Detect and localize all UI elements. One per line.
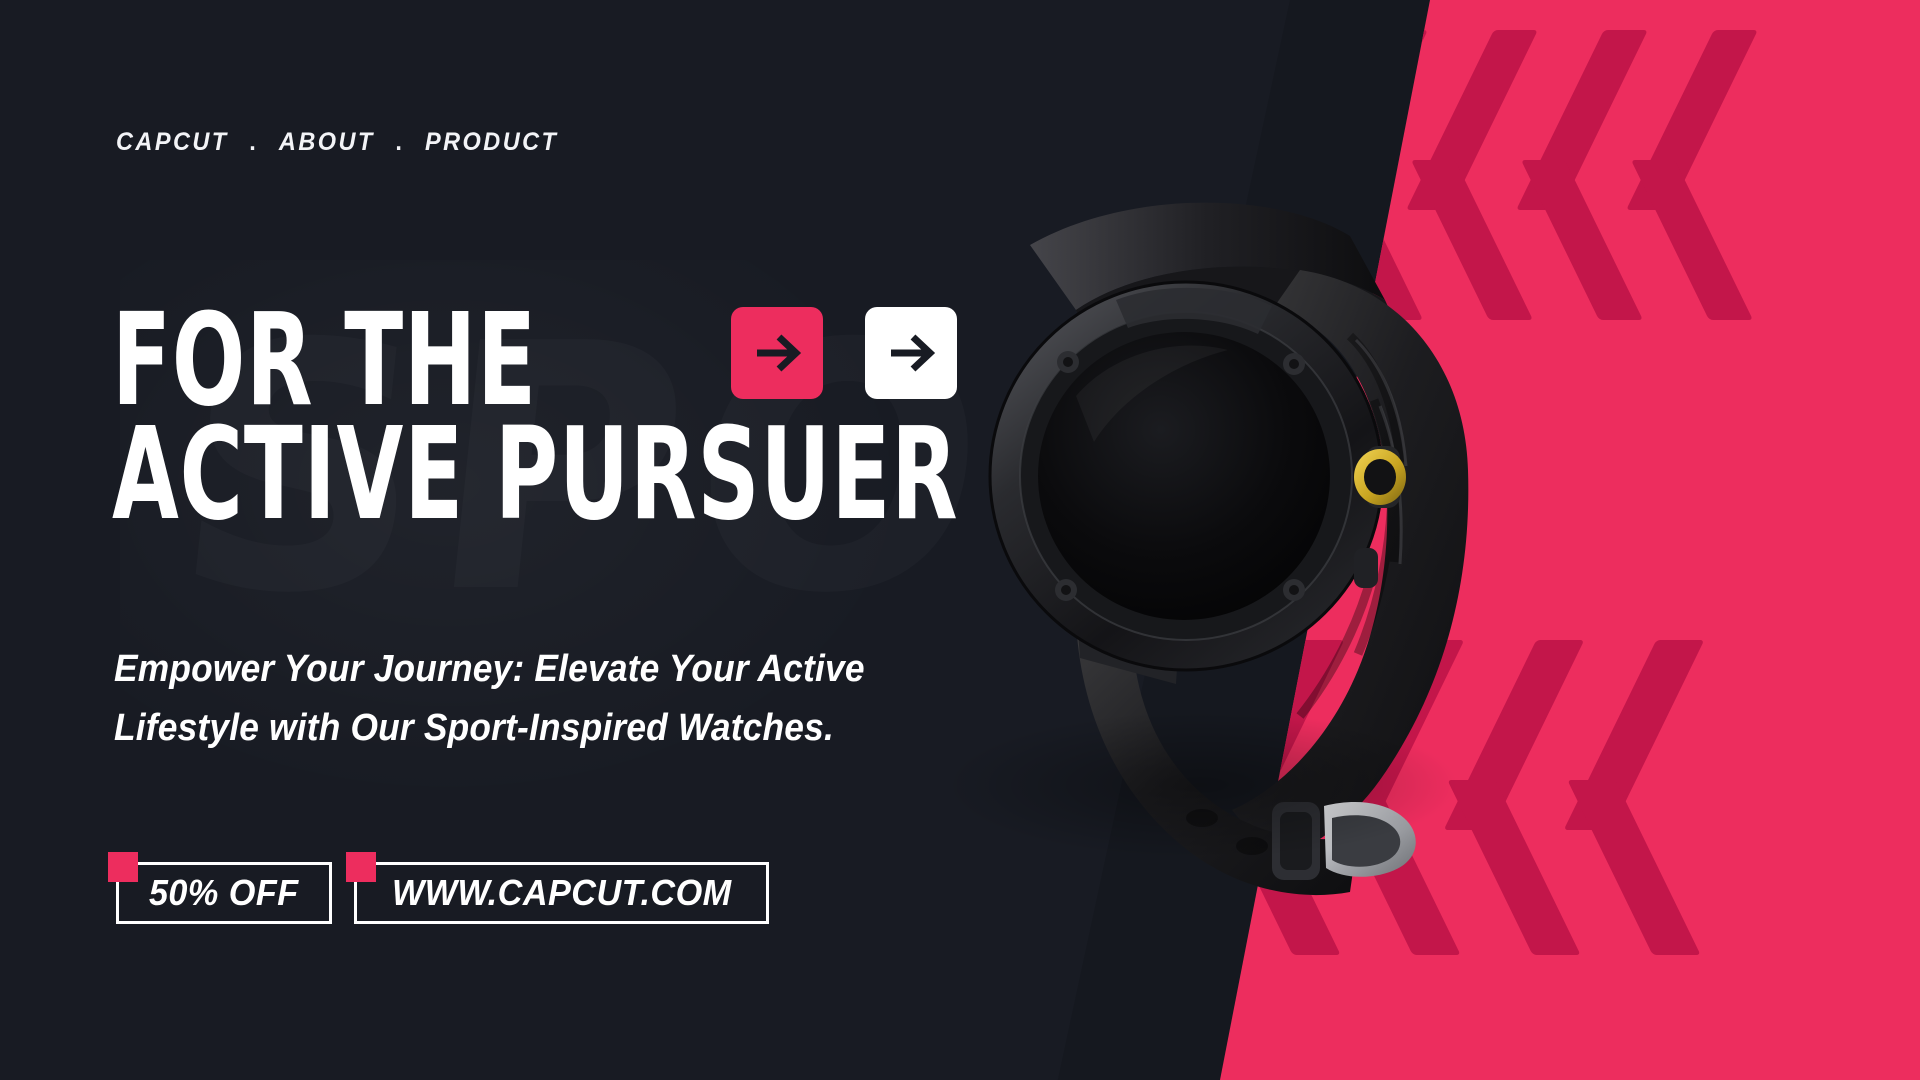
chevron-icon	[1610, 640, 1870, 900]
nav-separator: .	[229, 128, 279, 157]
website-badge[interactable]: WWW.CAPCUT.COM	[354, 862, 770, 924]
arrow-right-icon	[751, 327, 803, 379]
nav-item-capcut[interactable]: CAPCUT	[116, 128, 229, 157]
product-shadow	[940, 710, 1460, 860]
corner-square-accent	[108, 852, 138, 882]
nav-separator: .	[375, 128, 425, 157]
watch-screen	[1038, 332, 1330, 620]
cta-row: 50% OFF WWW.CAPCUT.COM	[116, 862, 769, 924]
discount-badge[interactable]: 50% OFF	[116, 862, 332, 924]
promo-banner: SPO CAPCUT . ABOUT . PRODUCT FOR THE	[0, 0, 1920, 1080]
navigation-bar: CAPCUT . ABOUT . PRODUCT	[116, 128, 558, 157]
chevron-icon	[1670, 30, 1920, 270]
discount-label: 50% OFF	[149, 872, 299, 914]
corner-square-accent	[346, 852, 376, 882]
nav-item-product[interactable]: PRODUCT	[425, 128, 558, 157]
website-label: WWW.CAPCUT.COM	[391, 872, 731, 914]
subtitle-line-2: Lifestyle with Our Sport-Inspired Watche…	[114, 699, 865, 758]
headline-line-2: ACTIVE PURSUER	[112, 414, 958, 536]
primary-arrow-button[interactable]	[731, 307, 823, 399]
nav-item-about[interactable]: ABOUT	[279, 128, 375, 157]
product-image-smartwatch	[880, 150, 1580, 910]
subtitle-line-1: Empower Your Journey: Elevate Your Activ…	[114, 640, 865, 699]
hero-subtitle: Empower Your Journey: Elevate Your Activ…	[114, 640, 865, 758]
watch-side-button	[1354, 548, 1378, 588]
